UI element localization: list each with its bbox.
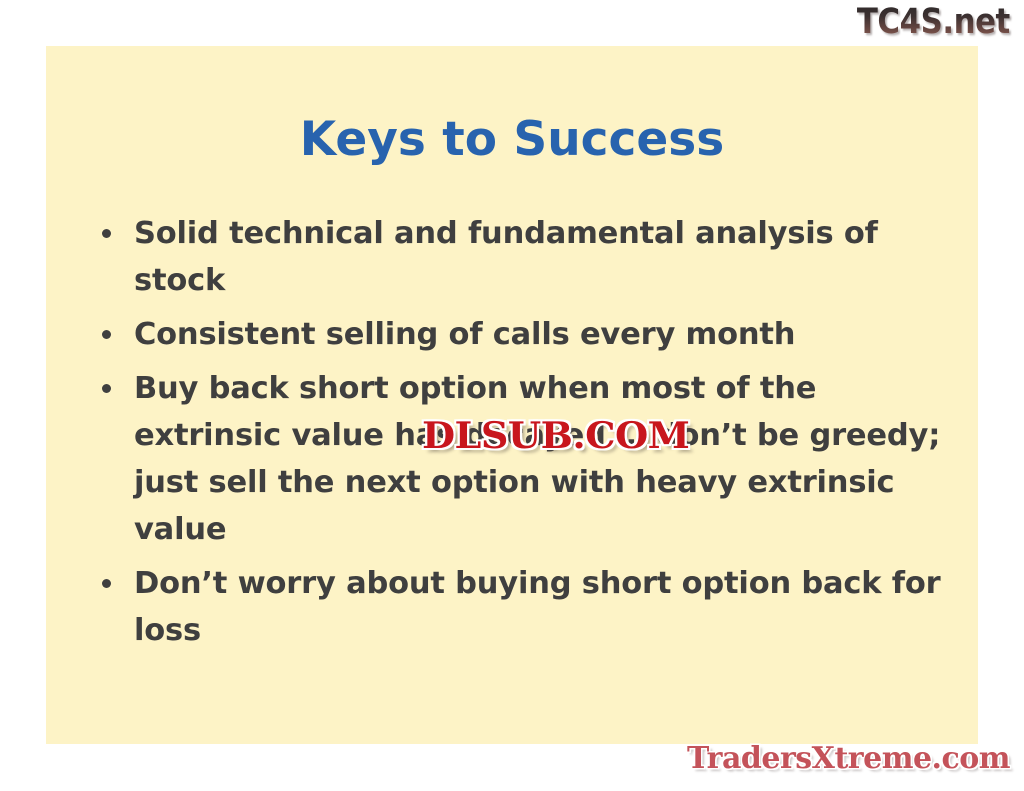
list-item-label: Don’t worry about buying short option ba… <box>134 560 950 654</box>
list-item-label: Buy back short option when most of the e… <box>134 365 950 553</box>
list-item: Buy back short option when most of the e… <box>90 365 950 553</box>
bullet-dot-icon <box>102 229 111 238</box>
brand-footer: TradersXtreme.com <box>687 741 1010 777</box>
slide-panel: Keys to Success Solid technical and fund… <box>46 46 978 744</box>
list-item: Don’t worry about buying short option ba… <box>90 560 950 654</box>
list-item-label: Solid technical and fundamental analysis… <box>134 210 950 304</box>
list-item-label: Consistent selling of calls every month <box>134 311 950 358</box>
bullet-dot-icon <box>102 384 111 393</box>
bullet-dot-icon <box>102 579 111 588</box>
bullet-dot-icon <box>102 330 111 339</box>
site-logo: TC4S.net <box>857 2 1010 42</box>
list-item: Consistent selling of calls every month <box>90 311 950 358</box>
dlsub-watermark: DLSUB.COM <box>422 415 689 457</box>
page-title: Keys to Success <box>46 114 978 166</box>
list-item: Solid technical and fundamental analysis… <box>90 210 950 304</box>
